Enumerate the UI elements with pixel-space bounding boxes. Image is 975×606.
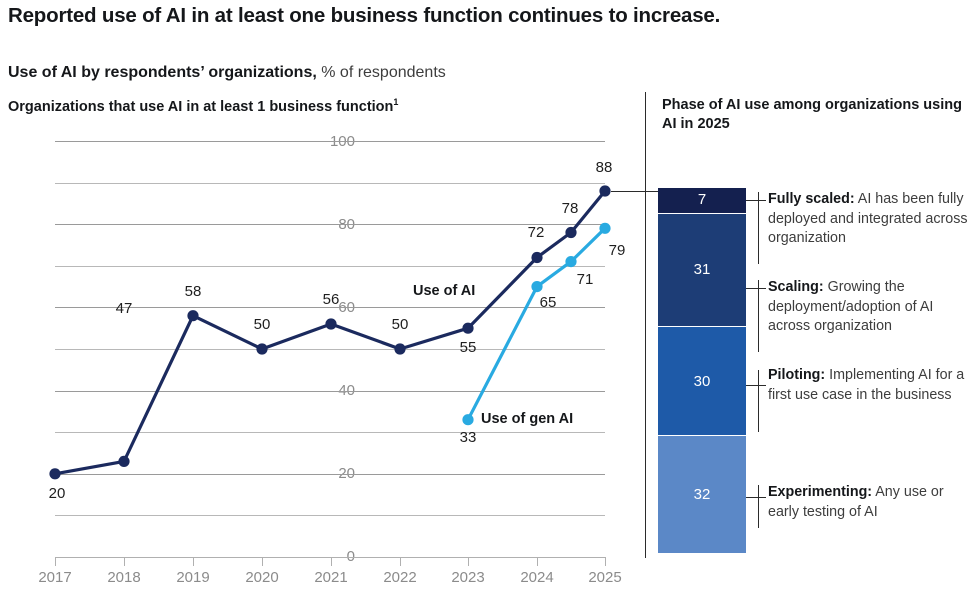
point-ai-2018: [118, 456, 129, 467]
value-ai-2024h: 78: [545, 200, 595, 217]
point-ai-2020: [256, 343, 267, 354]
value-genai-2024h: 71: [560, 271, 610, 288]
value-ai-2025: 88: [579, 159, 629, 176]
callout-label-fully-scaled: Fully scaled:: [768, 191, 855, 207]
point-ai-2025: [599, 185, 610, 196]
callout-label-scaling: Scaling:: [768, 279, 824, 295]
point-ai-2021: [325, 318, 336, 329]
bar-connector-line: [611, 191, 658, 192]
series-label-use-of-gen-ai: Use of gen AI: [481, 411, 573, 427]
point-ai-2022: [394, 343, 405, 354]
bar-value-fully-scaled: 7: [658, 191, 746, 208]
point-ai-2019: [187, 310, 198, 321]
callout-text-experimenting: Experimenting: Any use or early testing …: [768, 483, 974, 522]
value-ai-2022: 50: [375, 316, 425, 333]
point-ai-2023: [462, 323, 473, 334]
value-ai-2019: 58: [168, 283, 218, 300]
point-ai-2017: [49, 468, 60, 479]
bar-value-scaling: 31: [658, 261, 746, 278]
callout-label-experimenting: Experimenting:: [768, 484, 872, 500]
point-ai-2024: [531, 252, 542, 263]
value-ai-2024: 72: [511, 224, 561, 241]
point-genai-2024: [531, 281, 542, 292]
point-genai-2023: [462, 414, 473, 425]
bar-value-piloting: 30: [658, 373, 746, 390]
value-genai-2024: 65: [523, 294, 573, 311]
point-genai-2025: [599, 223, 610, 234]
callout-text-fully-scaled: Fully scaled: AI has been fully deployed…: [768, 190, 974, 249]
point-genai-2024h: [565, 256, 576, 267]
value-genai-2025: 79: [592, 242, 642, 259]
value-ai-2021: 56: [306, 291, 356, 308]
value-ai-2018: 47: [99, 300, 149, 317]
stacked-bar: 7 31 30 32: [658, 188, 746, 553]
callout-label-piloting: Piloting:: [768, 367, 825, 383]
value-ai-2020: 50: [237, 316, 287, 333]
point-ai-2024h: [565, 227, 576, 238]
value-genai-2023: 33: [443, 429, 493, 446]
value-ai-2023: 55: [443, 339, 493, 356]
series-label-use-of-ai: Use of AI: [413, 283, 475, 299]
bar-value-experimenting: 32: [658, 486, 746, 503]
callout-text-scaling: Scaling: Growing the deployment/adoption…: [768, 278, 974, 337]
callout-text-piloting: Piloting: Implementing AI for a first us…: [768, 366, 974, 405]
value-ai-2017: 20: [32, 485, 82, 502]
